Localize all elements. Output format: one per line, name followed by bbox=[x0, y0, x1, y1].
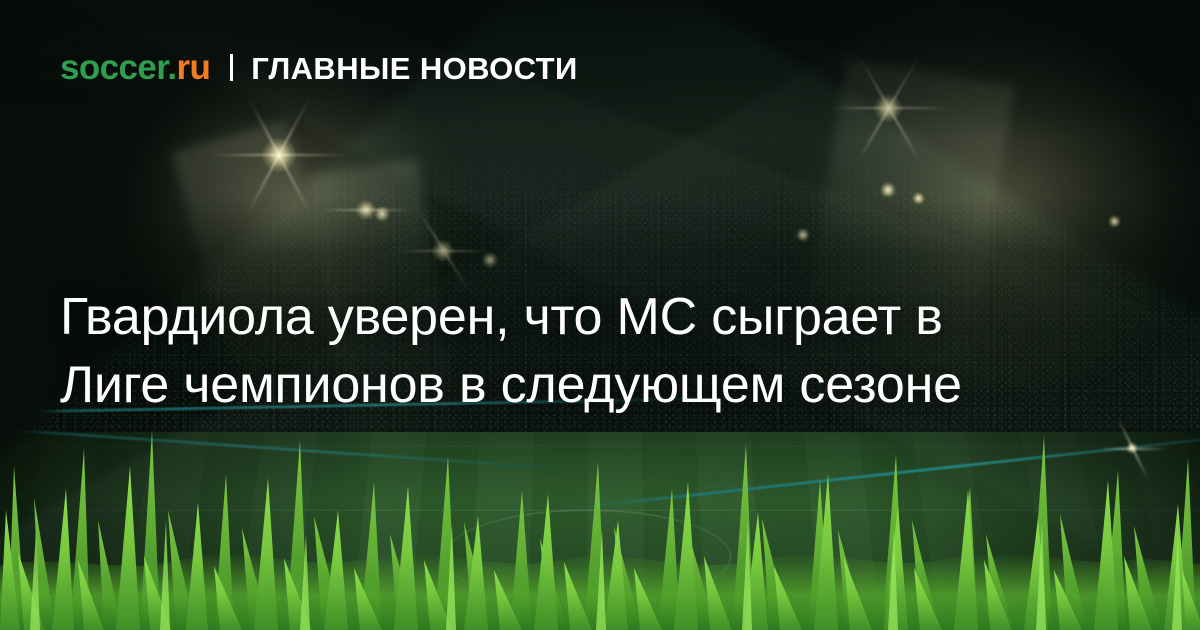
section-kicker: ГЛАВНЫЕ НОВОСТИ bbox=[251, 53, 577, 84]
news-share-card: soccer.ru ГЛАВНЫЕ НОВОСТИ Гвардиола увер… bbox=[0, 0, 1200, 630]
header-separator bbox=[230, 54, 233, 81]
headline: Гвардиола уверен, что МС сыграет в Лиге … bbox=[60, 283, 1160, 419]
headline-line-1: Гвардиола уверен, что МС сыграет в bbox=[60, 283, 1160, 351]
site-logo[interactable]: soccer.ru bbox=[60, 50, 210, 85]
headline-line-2: Лиге чемпионов в следующем сезоне bbox=[60, 351, 1160, 419]
logo-text-main: soccer bbox=[60, 48, 167, 87]
card-header: soccer.ru ГЛАВНЫЕ НОВОСТИ bbox=[60, 50, 578, 85]
logo-text-tld: ru bbox=[176, 48, 210, 87]
